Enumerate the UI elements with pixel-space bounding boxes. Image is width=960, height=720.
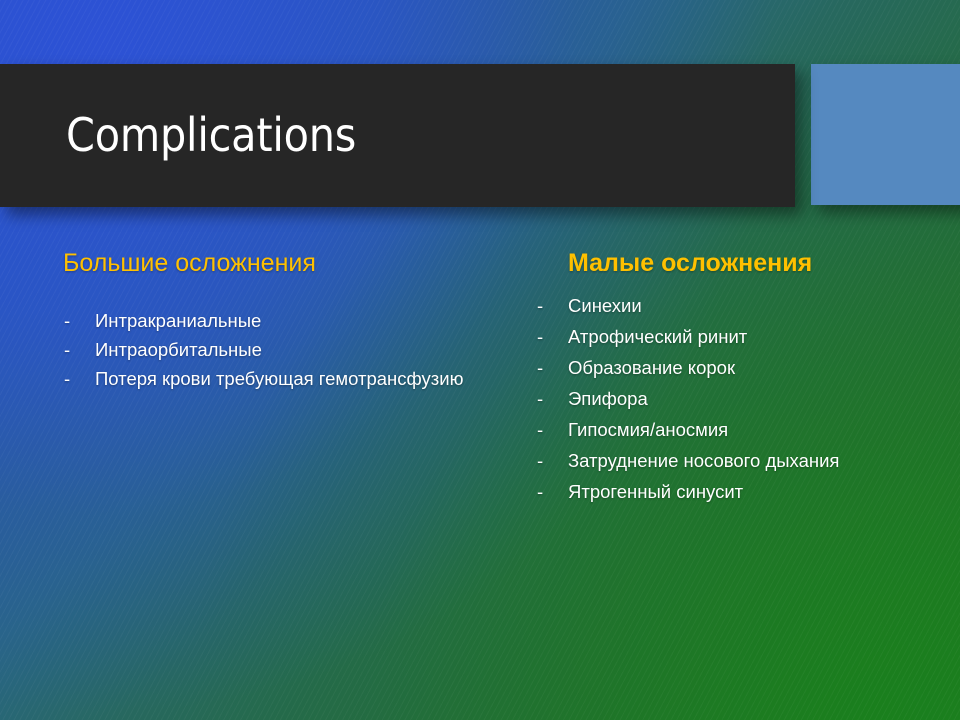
- accent-rectangle: [811, 64, 960, 205]
- bullet-list-minor: - Синехии - Атрофический ринит - Образов…: [533, 290, 928, 507]
- list-item-label: Потеря крови требующая гемотрансфузию: [95, 368, 463, 389]
- list-item-label: Гипосмия/аносмия: [568, 419, 728, 440]
- bullet-dash-icon: -: [537, 290, 543, 321]
- list-item-label: Интраорбитальные: [95, 339, 262, 360]
- column-minor-complications: Малые осложнения - Синехии - Атрофически…: [528, 248, 928, 507]
- list-item-label: Интракраниальные: [95, 310, 261, 331]
- list-item: - Интракраниальные: [60, 306, 490, 335]
- list-item-label: Эпифора: [568, 388, 648, 409]
- list-item-label: Ятрогенный синусит: [568, 481, 743, 502]
- bullet-dash-icon: -: [64, 306, 70, 335]
- list-item: - Синехии: [533, 290, 928, 321]
- list-item-label: Синехии: [568, 295, 642, 316]
- list-item: - Атрофический ринит: [533, 321, 928, 352]
- column-heading-minor: Малые осложнения: [568, 248, 928, 278]
- presentation-slide: Complications Большие осложнения - Интра…: [0, 0, 960, 720]
- bullet-dash-icon: -: [537, 476, 543, 507]
- slide-title: Complications: [66, 112, 356, 158]
- list-item: - Гипосмия/аносмия: [533, 414, 928, 445]
- list-item: - Интраорбитальные: [60, 335, 490, 364]
- bullet-dash-icon: -: [64, 335, 70, 364]
- bullet-list-major: - Интракраниальные - Интраорбитальные - …: [60, 306, 490, 393]
- column-heading-major: Большие осложнения: [63, 248, 490, 278]
- list-item-label: Атрофический ринит: [568, 326, 747, 347]
- list-item: - Потеря крови требующая гемотрансфузию: [60, 364, 490, 393]
- list-item: - Образование корок: [533, 352, 928, 383]
- title-banner: Complications: [0, 64, 795, 207]
- bullet-dash-icon: -: [64, 364, 70, 393]
- list-item: - Эпифора: [533, 383, 928, 414]
- column-major-complications: Большие осложнения - Интракраниальные - …: [60, 248, 490, 393]
- bullet-dash-icon: -: [537, 383, 543, 414]
- list-item-label: Затруднение носового дыхания: [568, 450, 839, 471]
- bullet-dash-icon: -: [537, 321, 543, 352]
- bullet-dash-icon: -: [537, 352, 543, 383]
- list-item-label: Образование корок: [568, 357, 735, 378]
- list-item: - Ятрогенный синусит: [533, 476, 928, 507]
- bullet-dash-icon: -: [537, 414, 543, 445]
- bullet-dash-icon: -: [537, 445, 543, 476]
- list-item: - Затруднение носового дыхания: [533, 445, 928, 476]
